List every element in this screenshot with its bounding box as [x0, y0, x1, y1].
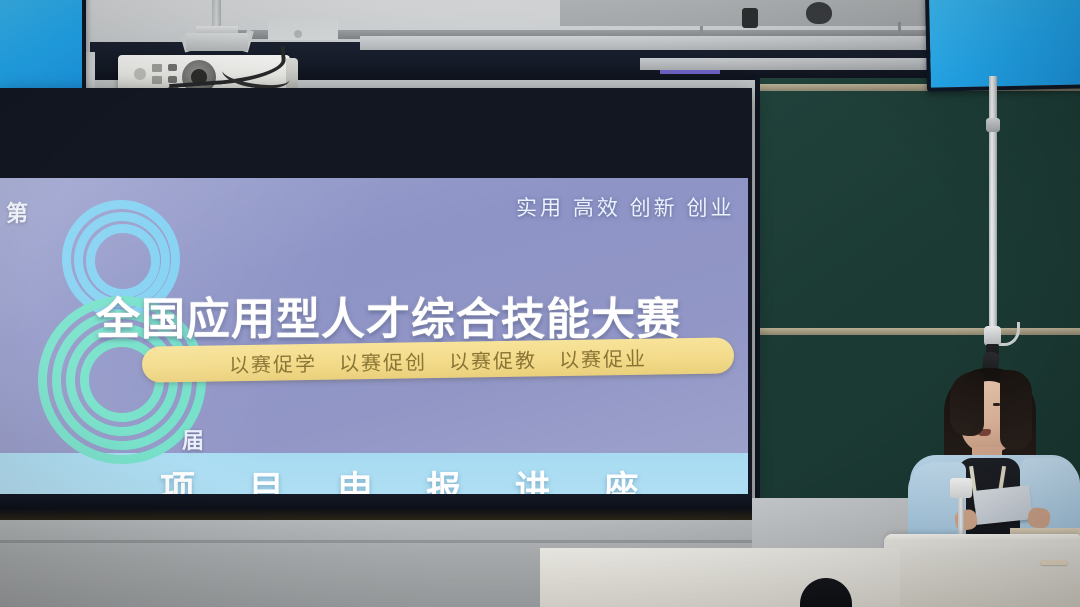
projector-vent — [152, 64, 162, 72]
microphone-pole-joint — [986, 118, 1000, 132]
presenter-hair-front-left — [950, 372, 984, 436]
projector-indicator-icon — [134, 68, 146, 80]
lecture-hall-photo: 第 届 实用 高效 创新 创业 全国应用型人才综合技能大赛 以赛促学 以赛促创 … — [0, 0, 1080, 607]
valance-indicator-light — [660, 70, 720, 74]
ceiling-fixture-icon — [742, 8, 758, 28]
presenter-eye-right — [993, 403, 1000, 406]
ceiling-speaker-icon — [806, 2, 832, 24]
edition-suffix-label: 届 — [182, 423, 204, 455]
projection-screen: 第 届 实用 高效 创新 创业 全国应用型人才综合技能大赛 以赛促学 以赛促创 … — [0, 88, 752, 520]
podium — [884, 534, 1080, 607]
wall-display-right[interactable] — [925, 0, 1080, 92]
projection-screen-bottom-bar — [0, 494, 752, 520]
presenter-hair-front-right — [1000, 370, 1032, 450]
ceiling-screw — [294, 30, 302, 38]
banner-item: 以赛促教 — [449, 344, 537, 374]
microphone-pole — [989, 76, 997, 336]
banner-item: 以赛促学 — [229, 347, 317, 377]
projector-mount-pole — [212, 0, 221, 28]
projector-vent — [152, 76, 162, 84]
banner-item: 以赛促业 — [559, 342, 647, 372]
edition-prefix-label: 第 — [6, 196, 28, 228]
podium-microphone-stand — [958, 492, 964, 536]
presenter-notes — [973, 485, 1032, 525]
podium-top-edge — [884, 534, 1080, 542]
podium-microphone-icon — [950, 478, 972, 498]
wall-display-left[interactable] — [0, 0, 86, 98]
podium-handle[interactable] — [1040, 560, 1068, 565]
banner-item: 以赛促创 — [339, 346, 427, 376]
wall-seam — [0, 540, 752, 543]
slide-main-title: 全国应用型人才综合技能大赛 — [96, 283, 681, 347]
chalkboard-ledge-middle — [760, 328, 1080, 335]
ceiling-mount-plate — [268, 18, 338, 40]
microphone-mount — [984, 326, 1001, 346]
slide-top-slogan: 实用 高效 创新 创业 — [516, 192, 735, 222]
